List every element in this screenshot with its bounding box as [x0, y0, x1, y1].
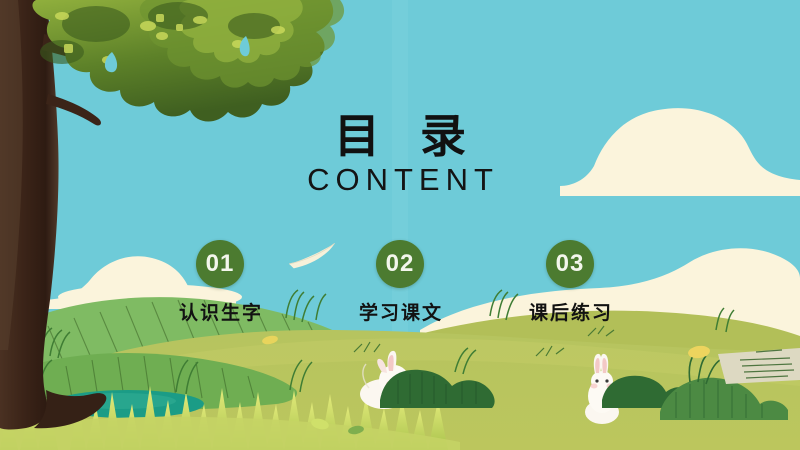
menu-label-02: 学习课文	[315, 298, 485, 325]
background-illustration	[0, 0, 800, 450]
menu-badge-03[interactable]: 03	[546, 240, 594, 288]
presentation-slide: 目 录 CONTENT 01 认识生字 02 学习课文 03 课后练习	[0, 0, 800, 450]
menu-label-03: 课后练习	[485, 298, 655, 325]
menu-item-03[interactable]: 03 课后练习	[485, 240, 655, 325]
menu-badge-02[interactable]: 02	[376, 240, 424, 288]
menu-item-01[interactable]: 01 认识生字	[135, 240, 305, 325]
content-menu: 01 认识生字 02 学习课文 03 课后练习	[0, 240, 800, 330]
stone-slab	[718, 348, 800, 384]
menu-label-01: 认识生字	[135, 298, 305, 325]
menu-item-02[interactable]: 02 学习课文	[315, 240, 485, 325]
menu-badge-01[interactable]: 01	[196, 240, 244, 288]
